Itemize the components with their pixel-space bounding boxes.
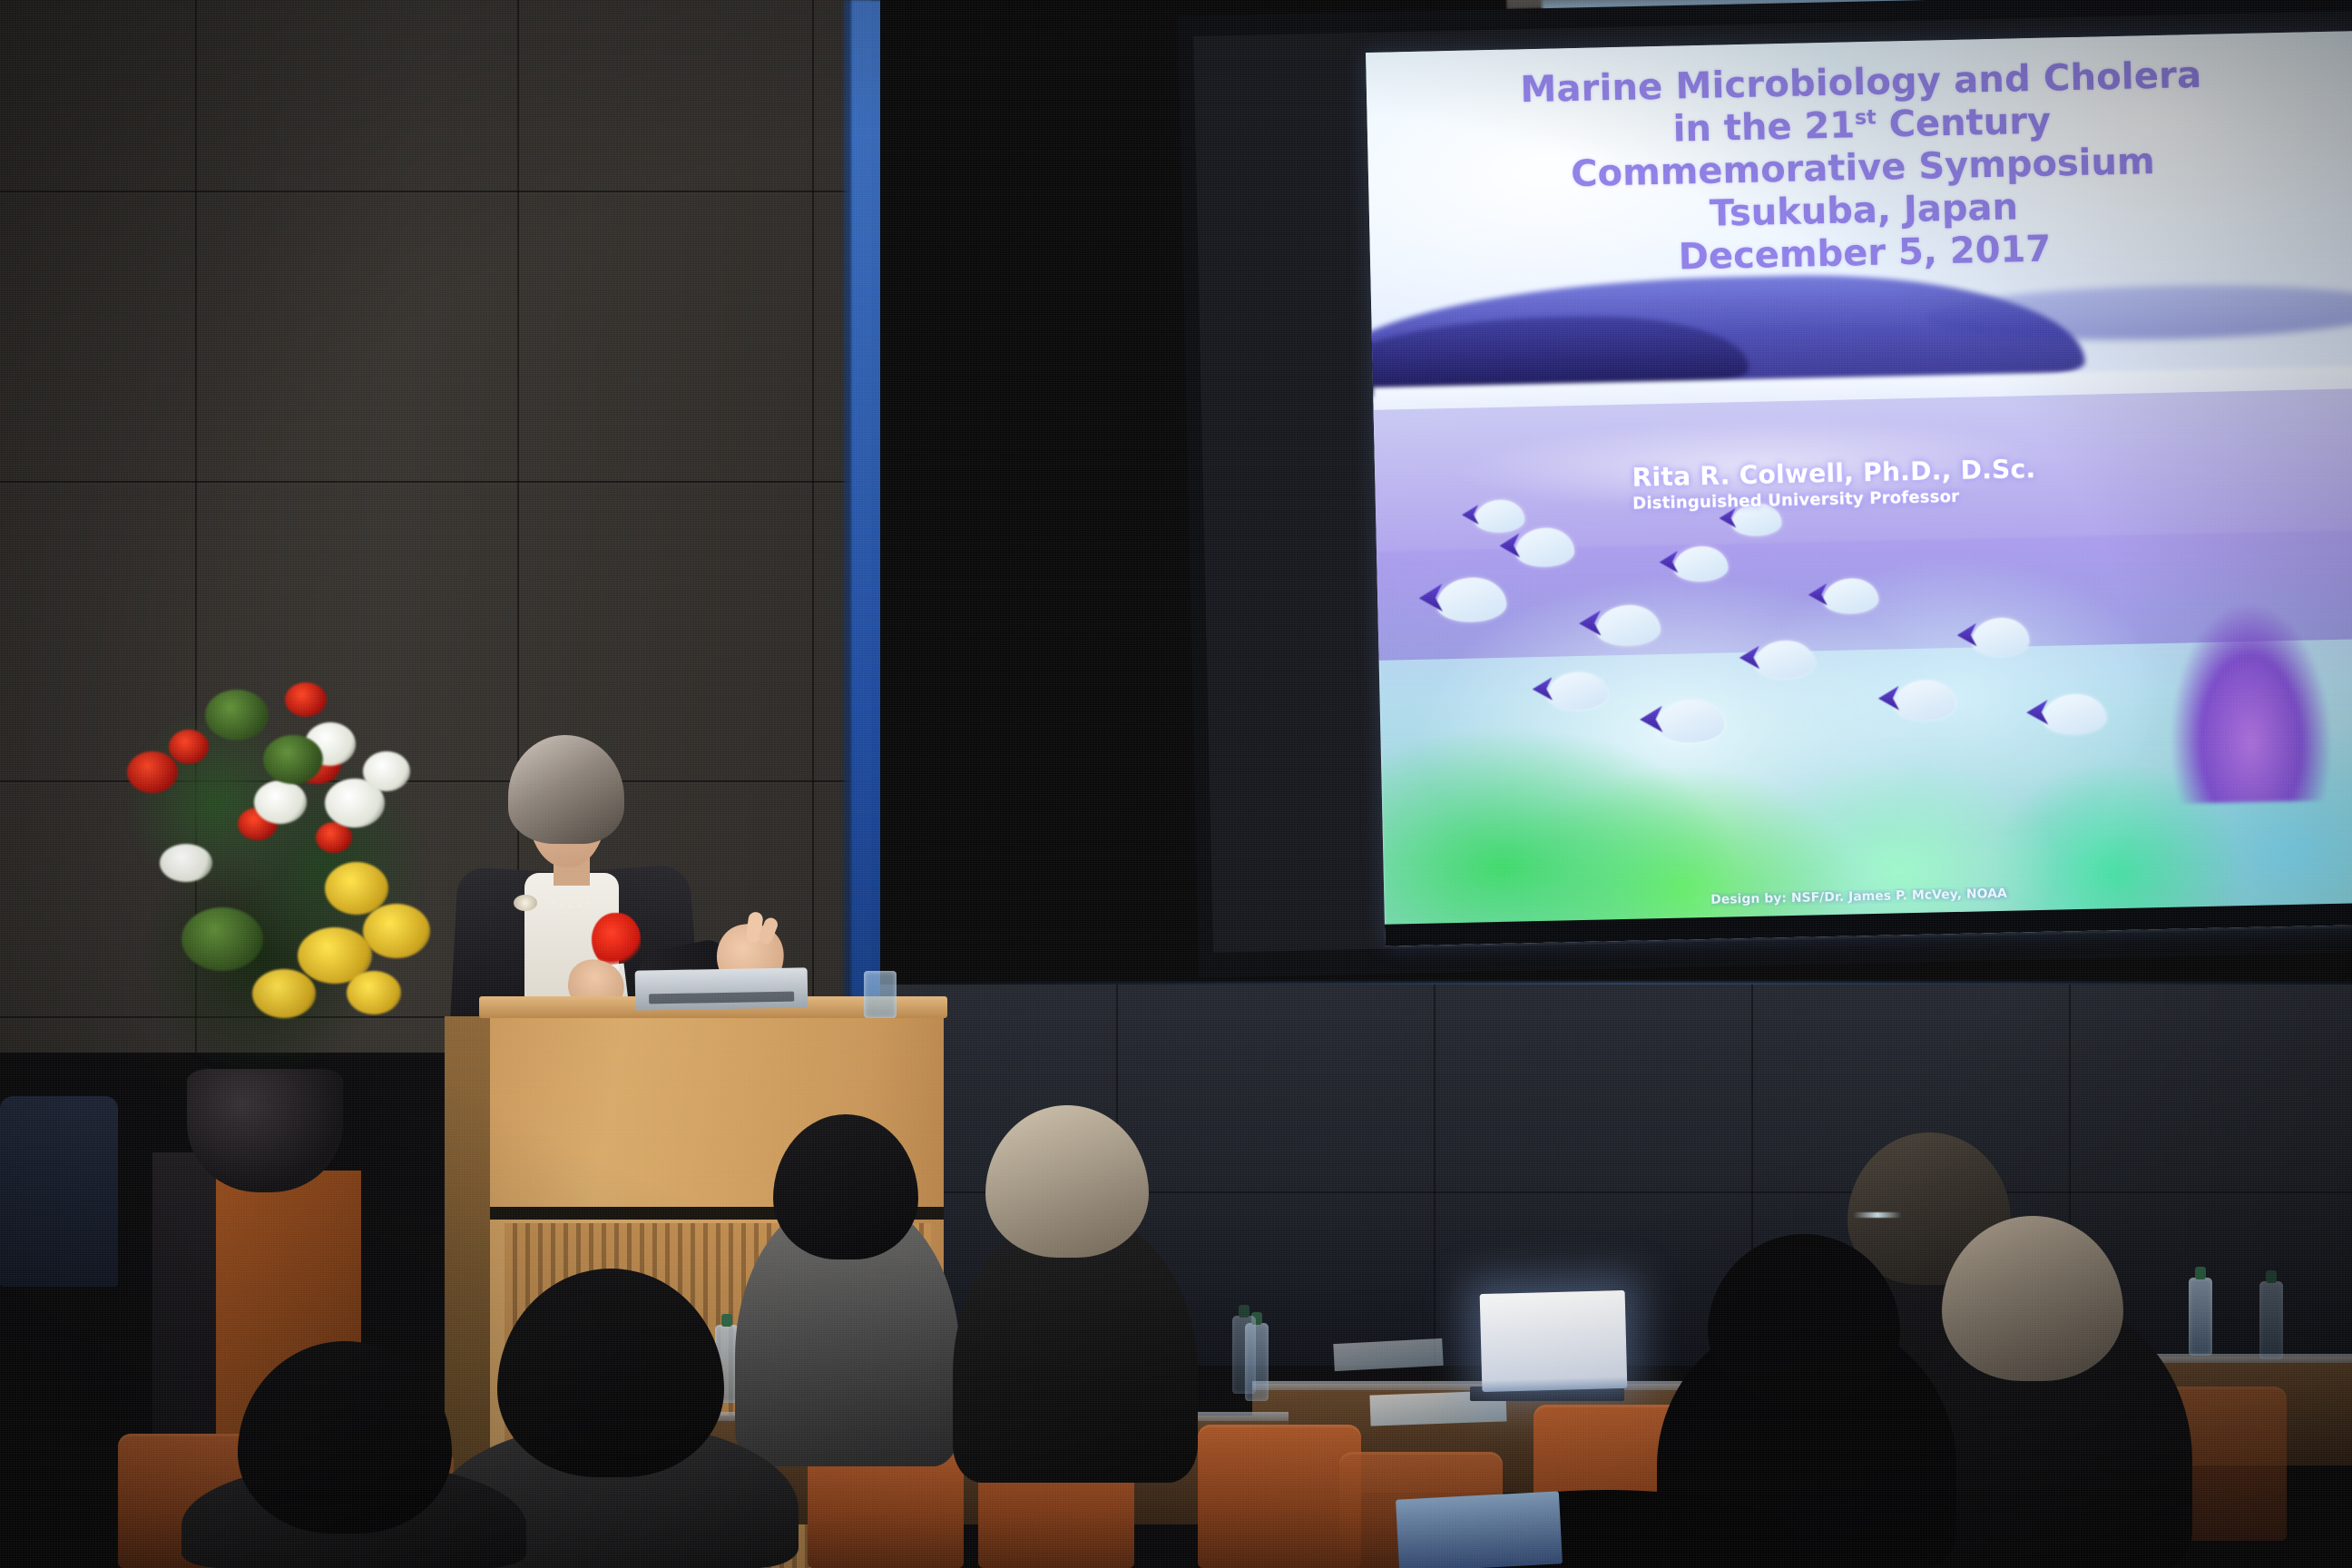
papers-on-desk	[1333, 1338, 1443, 1371]
brooch	[514, 895, 537, 911]
slide-coral-fan	[2170, 603, 2332, 803]
slide-title-line-2-suffix: Century	[1876, 100, 2051, 145]
presentation-slide: Marine Microbiology and Cholera in the 2…	[1366, 31, 2352, 946]
slide-title: Marine Microbiology and Cholera in the 2…	[1366, 51, 2352, 287]
foreground-laptop-lid	[1396, 1491, 1563, 1568]
speaker-hair	[508, 735, 624, 844]
water-bottle	[1232, 1316, 1256, 1394]
slide-fish	[1475, 500, 1524, 534]
water-bottle	[2259, 1281, 2283, 1359]
audience-laptop-screen	[1480, 1290, 1628, 1392]
blue-side-chair[interactable]	[0, 1096, 118, 1287]
lectern-laptop	[635, 967, 808, 1010]
water-bottle	[2189, 1278, 2212, 1356]
eyeglasses-glint	[1853, 1212, 1902, 1218]
slide-title-line-2-prefix: in the 21	[1672, 104, 1855, 150]
floral-arrangement	[91, 635, 472, 1107]
blue-accent-light-strip	[851, 0, 884, 1025]
pedestal-shadow-column	[152, 1152, 221, 1452]
water-glass	[864, 971, 897, 1018]
pearl-necklace	[546, 877, 597, 908]
auditorium-chair[interactable]	[1198, 1425, 1361, 1568]
slide-title-ordinal-suffix: st	[1855, 106, 1877, 130]
lecture-hall-photo: Marine Microbiology and Cholera in the 2…	[0, 0, 2352, 1568]
